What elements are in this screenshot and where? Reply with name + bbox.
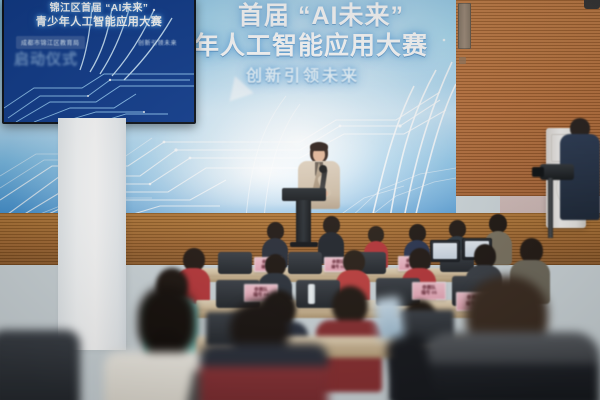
camera-operator [556, 118, 600, 238]
wall-vent [458, 3, 471, 49]
wall-mounted-tv: 锦江区首届 “AI未来” 青少年人工智能应用大赛 成都市锦江区教育局 创新引领未… [2, 0, 196, 124]
person-body [0, 330, 80, 400]
camera-monopod [548, 178, 553, 238]
projection-headline-line1: 首届 “AI未来” [186, 4, 456, 29]
tv-headline-line2: 青少年人工智能应用大赛 [12, 17, 186, 29]
projection-subtitle: 创新引领未来 [246, 69, 360, 85]
camera-lens-icon [532, 167, 544, 177]
audience-dark-coat [0, 330, 80, 400]
tv-headline-group: 锦江区首届 “AI未来” 青少年人工智能应用大赛 [12, 4, 186, 28]
speaker-hair [310, 142, 328, 151]
video-camera-icon [540, 164, 574, 180]
monitor-screen [433, 243, 457, 259]
event-photo-scene: 首届 “AI未来” 青少年人工智能应用大赛 创新引领未来 [0, 0, 600, 400]
tv-headline-line1: 锦江区首届 “AI未来” [12, 4, 186, 15]
tv-watermark: 启动仪式 [14, 48, 78, 69]
ceiling-fixture [584, 0, 600, 9]
seatback [218, 252, 252, 274]
audience-with-phone [392, 276, 600, 400]
smartphone-icon [373, 296, 404, 339]
microphone-head-icon [319, 165, 327, 173]
wall-sensor-icon [459, 57, 466, 64]
tv-screen-content: 锦江区首届 “AI未来” 青少年人工智能应用大赛 成都市锦江区教育局 创新引领未… [4, 0, 194, 122]
audience-maroon-hoodie [200, 300, 328, 400]
person-body [200, 344, 328, 400]
tv-badge-right: 创新引领未来 [133, 36, 182, 49]
podium-base [290, 242, 318, 247]
podium-column [296, 200, 311, 246]
person-head [332, 286, 368, 324]
seatback [288, 252, 322, 274]
